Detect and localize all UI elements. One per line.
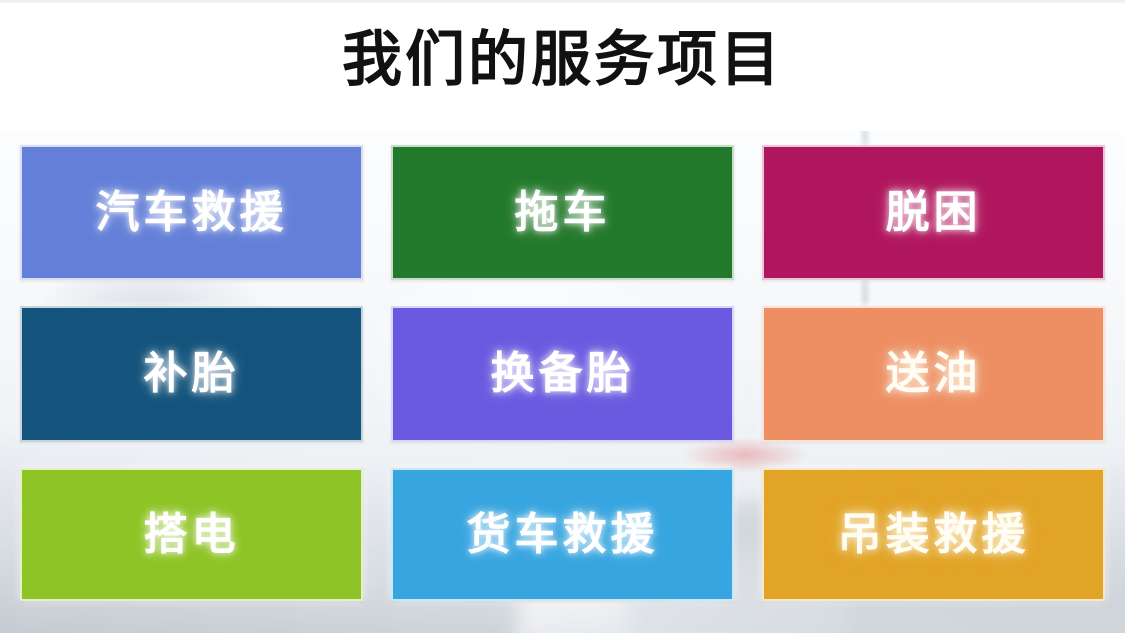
service-tile-fuel-delivery[interactable]: 送油 [762, 306, 1105, 442]
service-tile-crane-rescue[interactable]: 吊装救援 [762, 468, 1105, 601]
service-poster: 我们的服务项目 汽车救援拖车脱困补胎换备胎送油搭电货车救援吊装救援 [0, 0, 1125, 633]
service-tile-car-rescue[interactable]: 汽车救援 [20, 145, 363, 280]
service-tile-label: 货车救援 [467, 513, 659, 557]
service-tile-label: 拖车 [515, 191, 611, 235]
header-band: 我们的服务项目 [0, 3, 1125, 131]
service-tile-extrication[interactable]: 脱困 [762, 145, 1105, 280]
service-tile-label: 吊装救援 [838, 513, 1030, 557]
service-tile-jump-start[interactable]: 搭电 [20, 468, 363, 601]
service-tile-label: 换备胎 [491, 352, 635, 396]
service-tile-truck-rescue[interactable]: 货车救援 [391, 468, 734, 601]
service-tile-towing[interactable]: 拖车 [391, 145, 734, 280]
service-tile-label: 搭电 [144, 513, 240, 557]
service-tile-grid: 汽车救援拖车脱困补胎换备胎送油搭电货车救援吊装救援 [20, 145, 1105, 603]
service-tile-label: 汽车救援 [96, 191, 288, 235]
service-tile-spare-tire-change[interactable]: 换备胎 [391, 306, 734, 442]
service-tile-tire-repair[interactable]: 补胎 [20, 306, 363, 442]
service-tile-label: 补胎 [144, 352, 240, 396]
service-tile-label: 脱困 [886, 191, 982, 235]
service-tile-label: 送油 [886, 352, 982, 396]
page-title: 我们的服务项目 [0, 25, 1125, 95]
